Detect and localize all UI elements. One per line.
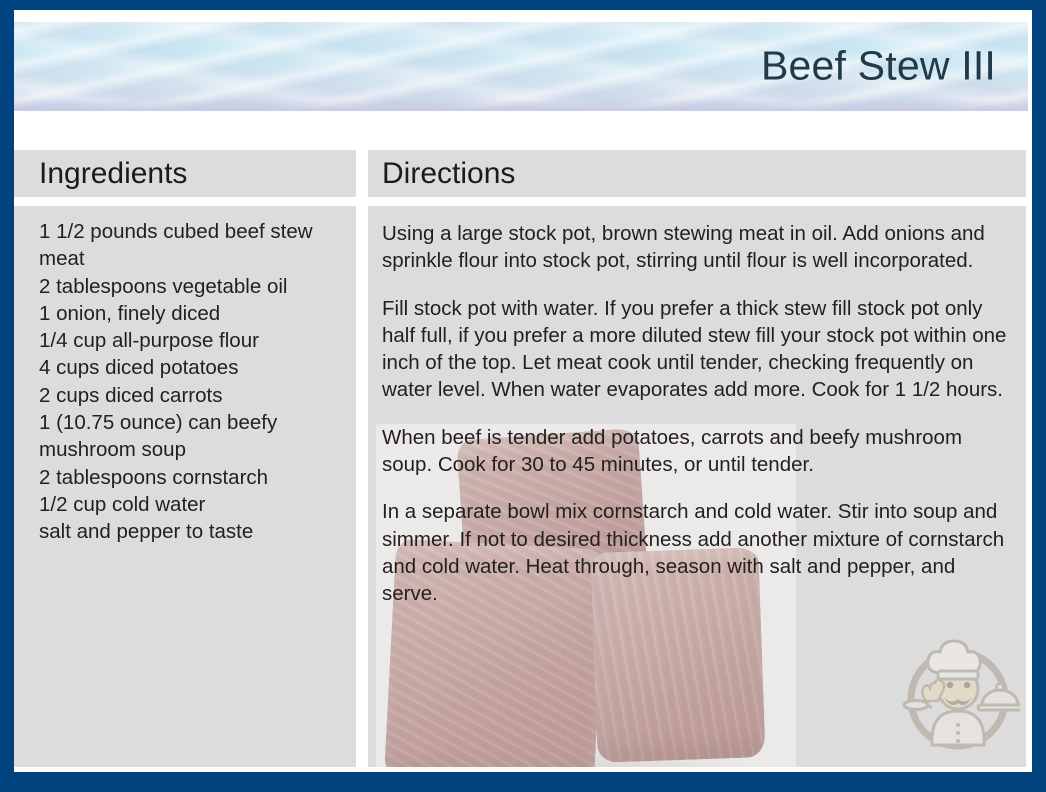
directions-heading-label: Directions [382, 157, 515, 191]
list-item: 2 tablespoons vegetable oil [39, 273, 342, 300]
ingredients-list: 1 1/2 pounds cubed beef stew meat 2 tabl… [39, 218, 342, 546]
directions-heading-gap [368, 197, 1026, 206]
directions-heading: Directions [368, 150, 541, 197]
page-title: Beef Stew III [761, 42, 996, 89]
list-item: 4 cups diced potatoes [39, 354, 342, 381]
ingredients-heading: Ingredients [14, 150, 210, 197]
ingredients-heading-label: Ingredients [39, 157, 187, 191]
list-item: 2 tablespoons cornstarch [39, 464, 342, 491]
chef-logo [896, 633, 1020, 753]
list-item: salt and pepper to taste [39, 518, 342, 545]
direction-step: Fill stock pot with water. If you prefer… [382, 295, 1014, 404]
list-item: 1 (10.75 ounce) can beefy mushroom soup [39, 409, 342, 464]
ingredients-heading-gap [14, 197, 356, 206]
list-item: 1/4 cup all-purpose flour [39, 327, 342, 354]
list-item: 1 onion, finely diced [39, 300, 342, 327]
direction-step: When beef is tender add potatoes, carrot… [382, 424, 1014, 479]
direction-step: In a separate bowl mix cornstarch and co… [382, 498, 1014, 607]
direction-step: Using a large stock pot, brown stewing m… [382, 220, 1014, 275]
title-banner: Beef Stew III [14, 22, 1028, 111]
list-item: 1/2 cup cold water [39, 491, 342, 518]
banner-lower-tint [14, 99, 1028, 111]
list-item: 1 1/2 pounds cubed beef stew meat [39, 218, 342, 273]
list-item: 2 cups diced carrots [39, 382, 342, 409]
directions-text: Using a large stock pot, brown stewing m… [368, 206, 1026, 608]
ingredients-panel: Ingredients 1 1/2 pounds cubed beef stew… [14, 150, 356, 767]
ingredients-body: 1 1/2 pounds cubed beef stew meat 2 tabl… [14, 206, 356, 767]
directions-panel: Directions Using a large stock pot, brow… [368, 150, 1026, 767]
directions-body: Using a large stock pot, brown stewing m… [368, 206, 1026, 767]
recipe-card: Beef Stew III Ingredients 1 1/2 pounds c… [0, 0, 1046, 792]
card-sheet: Beef Stew III Ingredients 1 1/2 pounds c… [14, 10, 1032, 772]
